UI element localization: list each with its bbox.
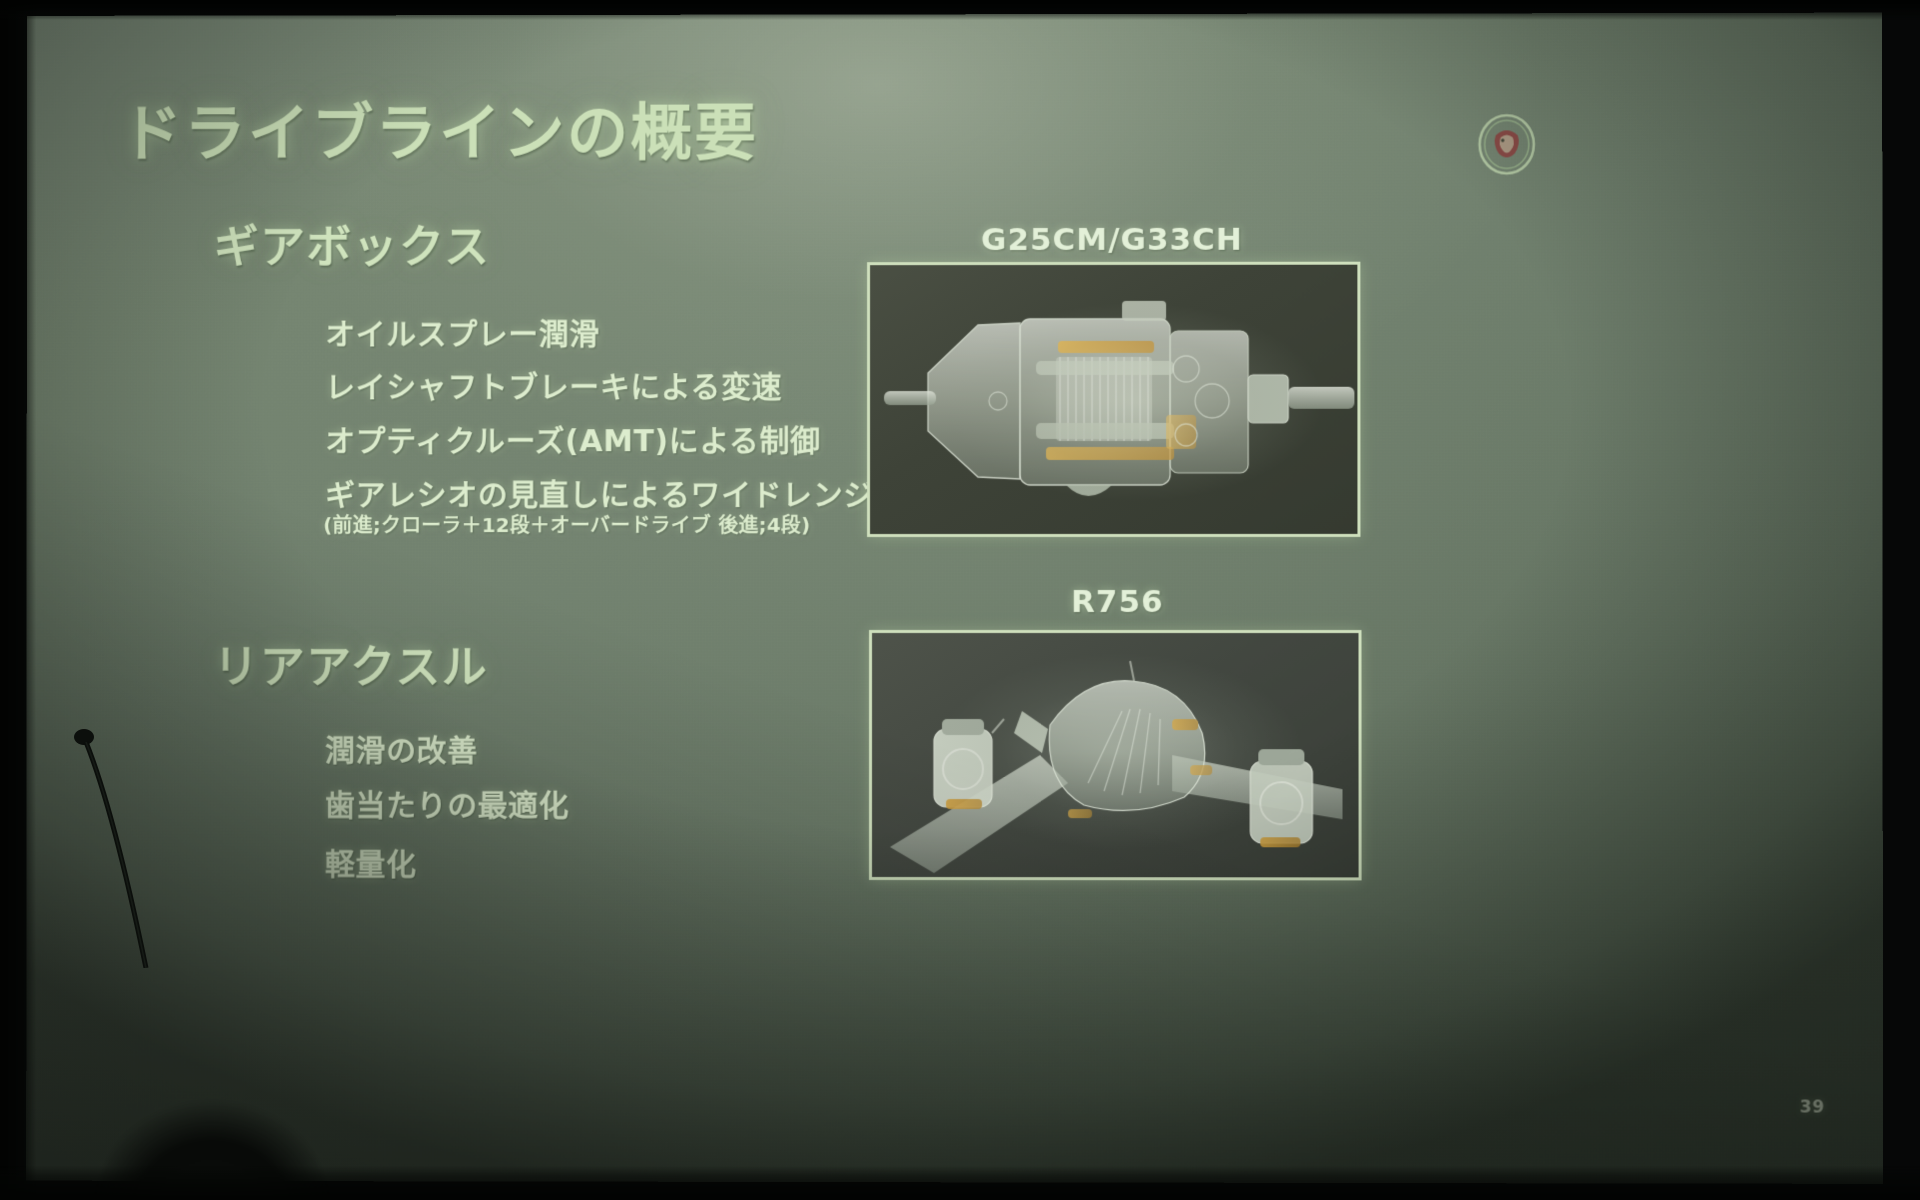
figure-image-rear-axle bbox=[869, 630, 1362, 880]
slide-page-number: 39 bbox=[1800, 1097, 1825, 1117]
projection-screen: ドライブラインの概要 ギアボックス オイルスプレー潤滑 レイシャフトブレーキによ… bbox=[26, 13, 1883, 1184]
projected-slide-photo: ドライブラインの概要 ギアボックス オイルスプレー潤滑 レイシャフトブレーキによ… bbox=[0, 0, 1920, 1200]
gear-ratio-note: (前進;クローラ＋12段＋オーバードライブ 後進;4段) bbox=[323, 509, 810, 538]
bullet-item: ギアレシオの見直しによるワイドレンジ化 bbox=[325, 470, 904, 514]
figure-image-gearbox bbox=[867, 262, 1360, 537]
figure-glow bbox=[869, 630, 1362, 880]
room-edge-top bbox=[0, 0, 1920, 20]
bullet-item: 歯当たりの最適化 bbox=[325, 781, 569, 825]
figure-caption-gearbox: G25CM/G33CH bbox=[981, 222, 1243, 258]
bullet-item: レイシャフトブレーキによる変速 bbox=[325, 362, 782, 406]
figure-caption-rear-axle: R756 bbox=[1071, 584, 1164, 620]
page-title: ドライブラインの概要 bbox=[120, 100, 758, 168]
bullet-item: 軽量化 bbox=[325, 840, 417, 884]
room-edge-bottom bbox=[0, 1166, 1920, 1200]
bullet-item: オプティクルーズ(AMT)による制御 bbox=[325, 416, 820, 460]
bullet-item: オイルスプレー潤滑 bbox=[325, 309, 600, 353]
room-edge-left bbox=[0, 0, 36, 1200]
bullet-item: 潤滑の改善 bbox=[325, 726, 478, 770]
slide-surface: ドライブラインの概要 ギアボックス オイルスプレー潤滑 レイシャフトブレーキによ… bbox=[26, 13, 1883, 1184]
section-heading-gearbox: ギアボックス bbox=[214, 211, 491, 276]
figure-glow bbox=[867, 262, 1360, 537]
section-heading-rear-axle: リアアクスル bbox=[214, 631, 488, 696]
scania-griffin-logo-icon bbox=[1477, 113, 1537, 175]
